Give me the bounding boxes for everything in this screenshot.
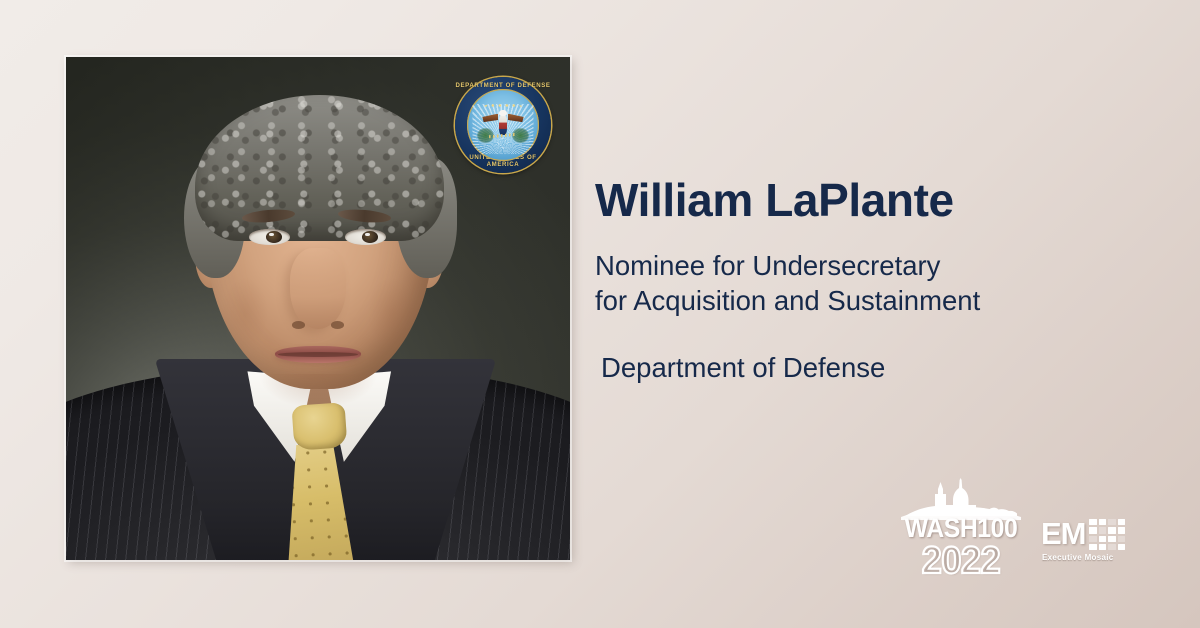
person-name: William LaPlante (595, 176, 1155, 224)
mosaic-tile (1099, 536, 1107, 542)
mosaic-tile (1089, 527, 1097, 533)
seal-top-text: DEPARTMENT OF DEFENSE (455, 82, 551, 89)
mosaic-tile (1118, 519, 1126, 525)
mosaic-tile (1089, 519, 1097, 525)
hair (195, 95, 444, 241)
mosaic-tile (1089, 536, 1097, 542)
mosaic-tile (1089, 544, 1097, 550)
person-info-block: William LaPlante Nominee for Undersecret… (595, 176, 1155, 384)
portrait-photo: DEPARTMENT OF DEFENSE UNITED STATES OF A… (66, 57, 570, 560)
chin-shadow (258, 374, 379, 409)
necktie-knot (291, 402, 347, 451)
seal-eagle-body (499, 114, 508, 135)
nostril-left (292, 321, 305, 329)
wash100-award-card: DEPARTMENT OF DEFENSE UNITED STATES OF A… (0, 0, 1200, 628)
mosaic-tile (1108, 544, 1116, 550)
executive-mosaic-subtitle: Executive Mosaic (1042, 553, 1114, 562)
wash100-logo: WASH100 2022 (897, 476, 1025, 582)
nostril-right (331, 321, 344, 329)
nose (290, 248, 345, 328)
mosaic-tile (1099, 527, 1107, 533)
executive-mosaic-monogram: EM (1041, 518, 1086, 549)
mosaic-tiles-icon (1089, 519, 1125, 550)
seal-eagle-head (499, 110, 506, 116)
mosaic-tile (1108, 536, 1116, 542)
person-role: Nominee for Undersecretary for Acquisiti… (595, 248, 1155, 318)
wash100-year: 2022 (900, 540, 1022, 583)
iris-left (266, 231, 282, 243)
mosaic-tile (1118, 536, 1126, 542)
cheek-shadow-left (222, 278, 267, 348)
mosaic-tile (1099, 544, 1107, 550)
seal-inner-field (467, 89, 538, 160)
person-organization: Department of Defense (601, 352, 1155, 384)
eye-right (345, 229, 386, 245)
mosaic-tile (1118, 544, 1126, 550)
mosaic-tile (1099, 519, 1107, 525)
cheek-shadow-right (368, 278, 413, 348)
mosaic-tile (1118, 527, 1126, 533)
iris-right (362, 231, 378, 243)
eye-left (249, 229, 290, 245)
department-of-defense-seal-icon: DEPARTMENT OF DEFENSE UNITED STATES OF A… (455, 77, 551, 173)
mosaic-tile (1108, 527, 1116, 533)
executive-mosaic-logo: EM Executive Mosaic (1041, 518, 1153, 570)
mosaic-tile (1108, 519, 1116, 525)
person-role-line-2: for Acquisition and Sustainment (595, 285, 980, 316)
person-role-line-1: Nominee for Undersecretary (595, 250, 940, 281)
